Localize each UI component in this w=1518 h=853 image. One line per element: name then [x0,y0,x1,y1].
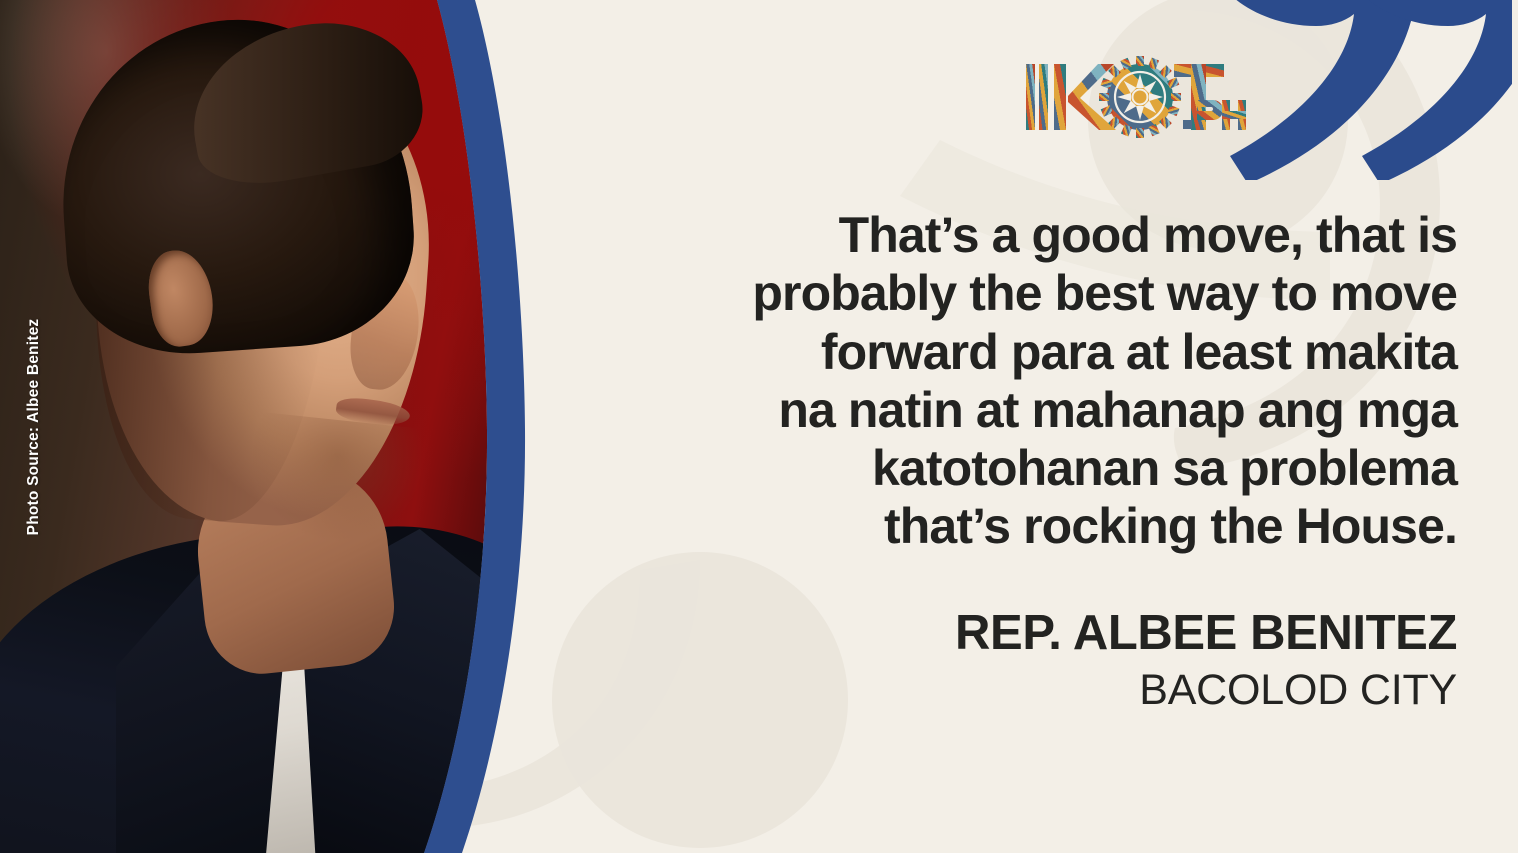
quote-line: katotohanan sa problema [752,439,1457,497]
attribution: REP. ALBEE BENITEZ BACOLOD CITY [955,608,1457,717]
photo-chin-shadow [244,411,426,548]
quote-line: That’s a good move, that is [752,206,1457,264]
quote-line: probably the best way to move [752,264,1457,322]
quote-line: forward para at least makita [752,323,1457,381]
speaker-name: REP. ALBEE BENITEZ [955,608,1457,659]
photo-credit-label: Photo Source: Albee Benitez [25,277,43,577]
quote-line: na natin at mahanap ang mga [752,381,1457,439]
speaker-photo [0,0,530,853]
speaker-location: BACOLOD CITY [955,665,1457,717]
quote-card: Photo Source: Albee Benitez [0,0,1518,853]
quote-text: That’s a good move, that is probably the… [752,206,1457,556]
quote-line: that’s rocking the House. [752,497,1457,555]
quote-content: That’s a good move, that is probably the… [560,0,1460,853]
